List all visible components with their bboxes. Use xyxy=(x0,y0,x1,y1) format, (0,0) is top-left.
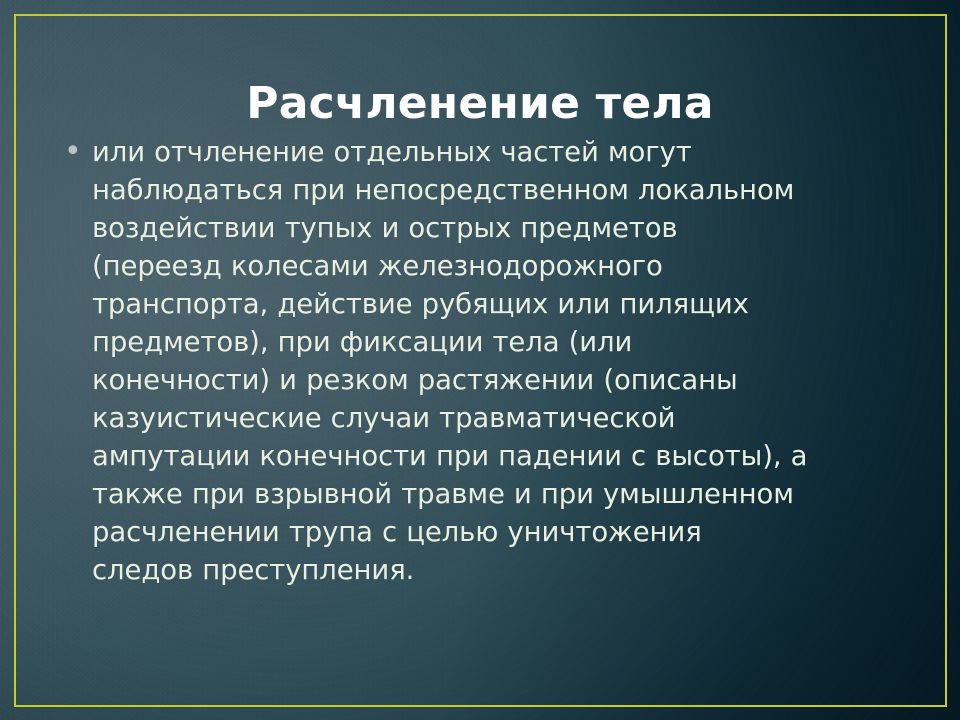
body-text-line: также при взрывной травме и при умышленн… xyxy=(92,475,918,513)
body-text-line: предметов), при фиксации тела (или xyxy=(92,323,918,361)
slide-title: Расчленение тела xyxy=(0,82,960,126)
body-text-line: следов преступления. xyxy=(92,551,918,589)
slide-content: Расчленение тела • или отчленение отдель… xyxy=(0,0,960,720)
body-text-line: воздействии тупых и острых предметов xyxy=(92,209,918,247)
body-text-line: расчленении трупа с целью уничтожения xyxy=(92,513,918,551)
body-text-line: (переезд колесами железнодорожного xyxy=(92,247,918,285)
bullet-marker-icon: • xyxy=(58,133,92,171)
slide-body-text: или отчленение отдельных частей могутнаб… xyxy=(92,133,918,589)
body-text-line: конечности) и резком растяжении (описаны xyxy=(92,361,918,399)
body-text-line: наблюдаться при непосредственном локальн… xyxy=(92,171,918,209)
body-text-line: ампутации конечности при падении с высот… xyxy=(92,437,918,475)
slide-canvas: Расчленение тела • или отчленение отдель… xyxy=(0,0,960,720)
bullet-list-item: • или отчленение отдельных частей могутн… xyxy=(58,133,918,589)
body-text-line: транспорта, действие рубящих или пилящих xyxy=(92,285,918,323)
body-text-line: или отчленение отдельных частей могут xyxy=(92,133,918,171)
body-text-line: казуистические случаи травматической xyxy=(92,399,918,437)
